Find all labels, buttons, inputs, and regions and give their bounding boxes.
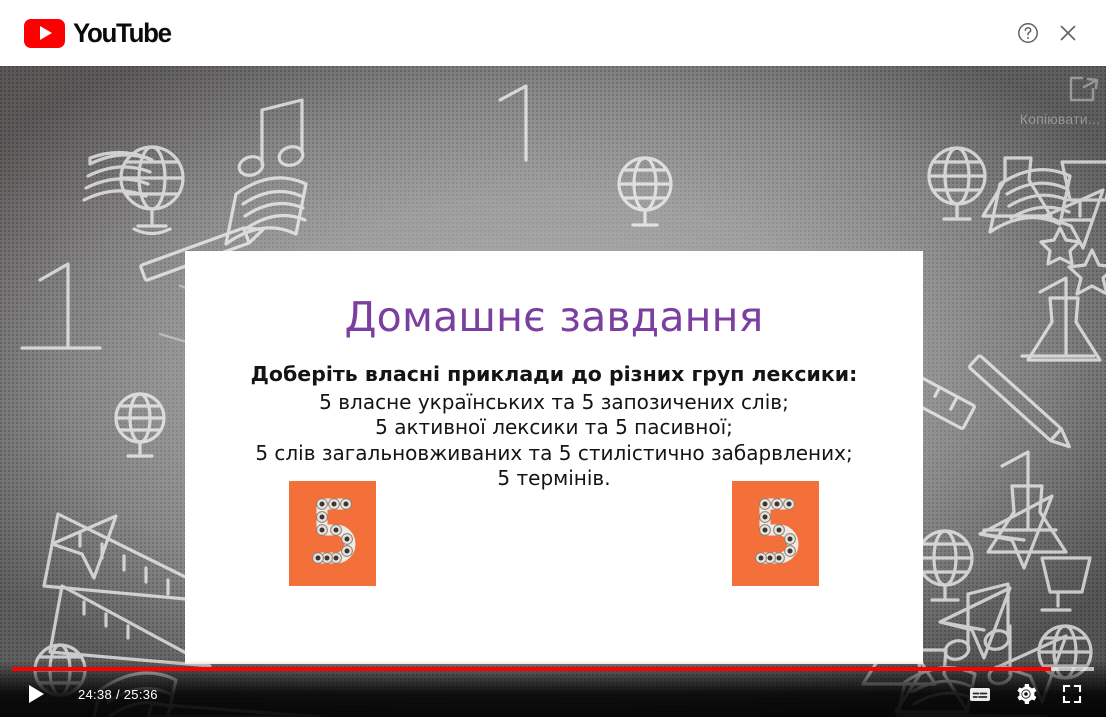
close-icon[interactable] [1048, 13, 1088, 53]
chain-digit-five-icon [749, 496, 803, 572]
slide-body: Доберіть власні приклади до різних груп … [185, 362, 923, 492]
number-tile-right [732, 481, 819, 586]
play-button[interactable] [16, 674, 56, 714]
fullscreen-icon[interactable] [1052, 674, 1092, 714]
app-header: YouTube [0, 0, 1106, 66]
youtube-play-icon [24, 19, 65, 48]
controls-row: 24:38 / 25:36 [0, 671, 1106, 717]
slide-line-2: 5 активної лексики та 5 пасивної; [185, 415, 923, 441]
player-controls: 24:38 / 25:36 [0, 661, 1106, 717]
number-tile-left [289, 481, 376, 586]
youtube-wordmark: YouTube [73, 20, 171, 47]
subtitles-icon[interactable] [960, 674, 1000, 714]
gear-icon[interactable] [1006, 674, 1046, 714]
slide-title: Домашнє завдання [344, 295, 763, 340]
help-circle-icon[interactable] [1008, 13, 1048, 53]
slide-card: Домашнє завдання Доберіть власні приклад… [185, 251, 923, 664]
number-tiles-row [185, 481, 923, 586]
right-controls [960, 674, 1092, 714]
video-surface[interactable]: Копіювати... Домашнє завдання Доберіть в… [0, 66, 1106, 717]
slide-lead-line: Доберіть власні приклади до різних груп … [185, 362, 923, 388]
slide-line-3: 5 слів загальновживаних та 5 стилістично… [185, 441, 923, 467]
youtube-logo[interactable]: YouTube [24, 19, 173, 48]
chain-digit-five-icon [306, 496, 360, 572]
slide-line-1: 5 власне українських та 5 запозичених сл… [185, 390, 923, 416]
youtube-player-window: YouTube [0, 0, 1106, 717]
time-display: 24:38 / 25:36 [78, 687, 158, 702]
